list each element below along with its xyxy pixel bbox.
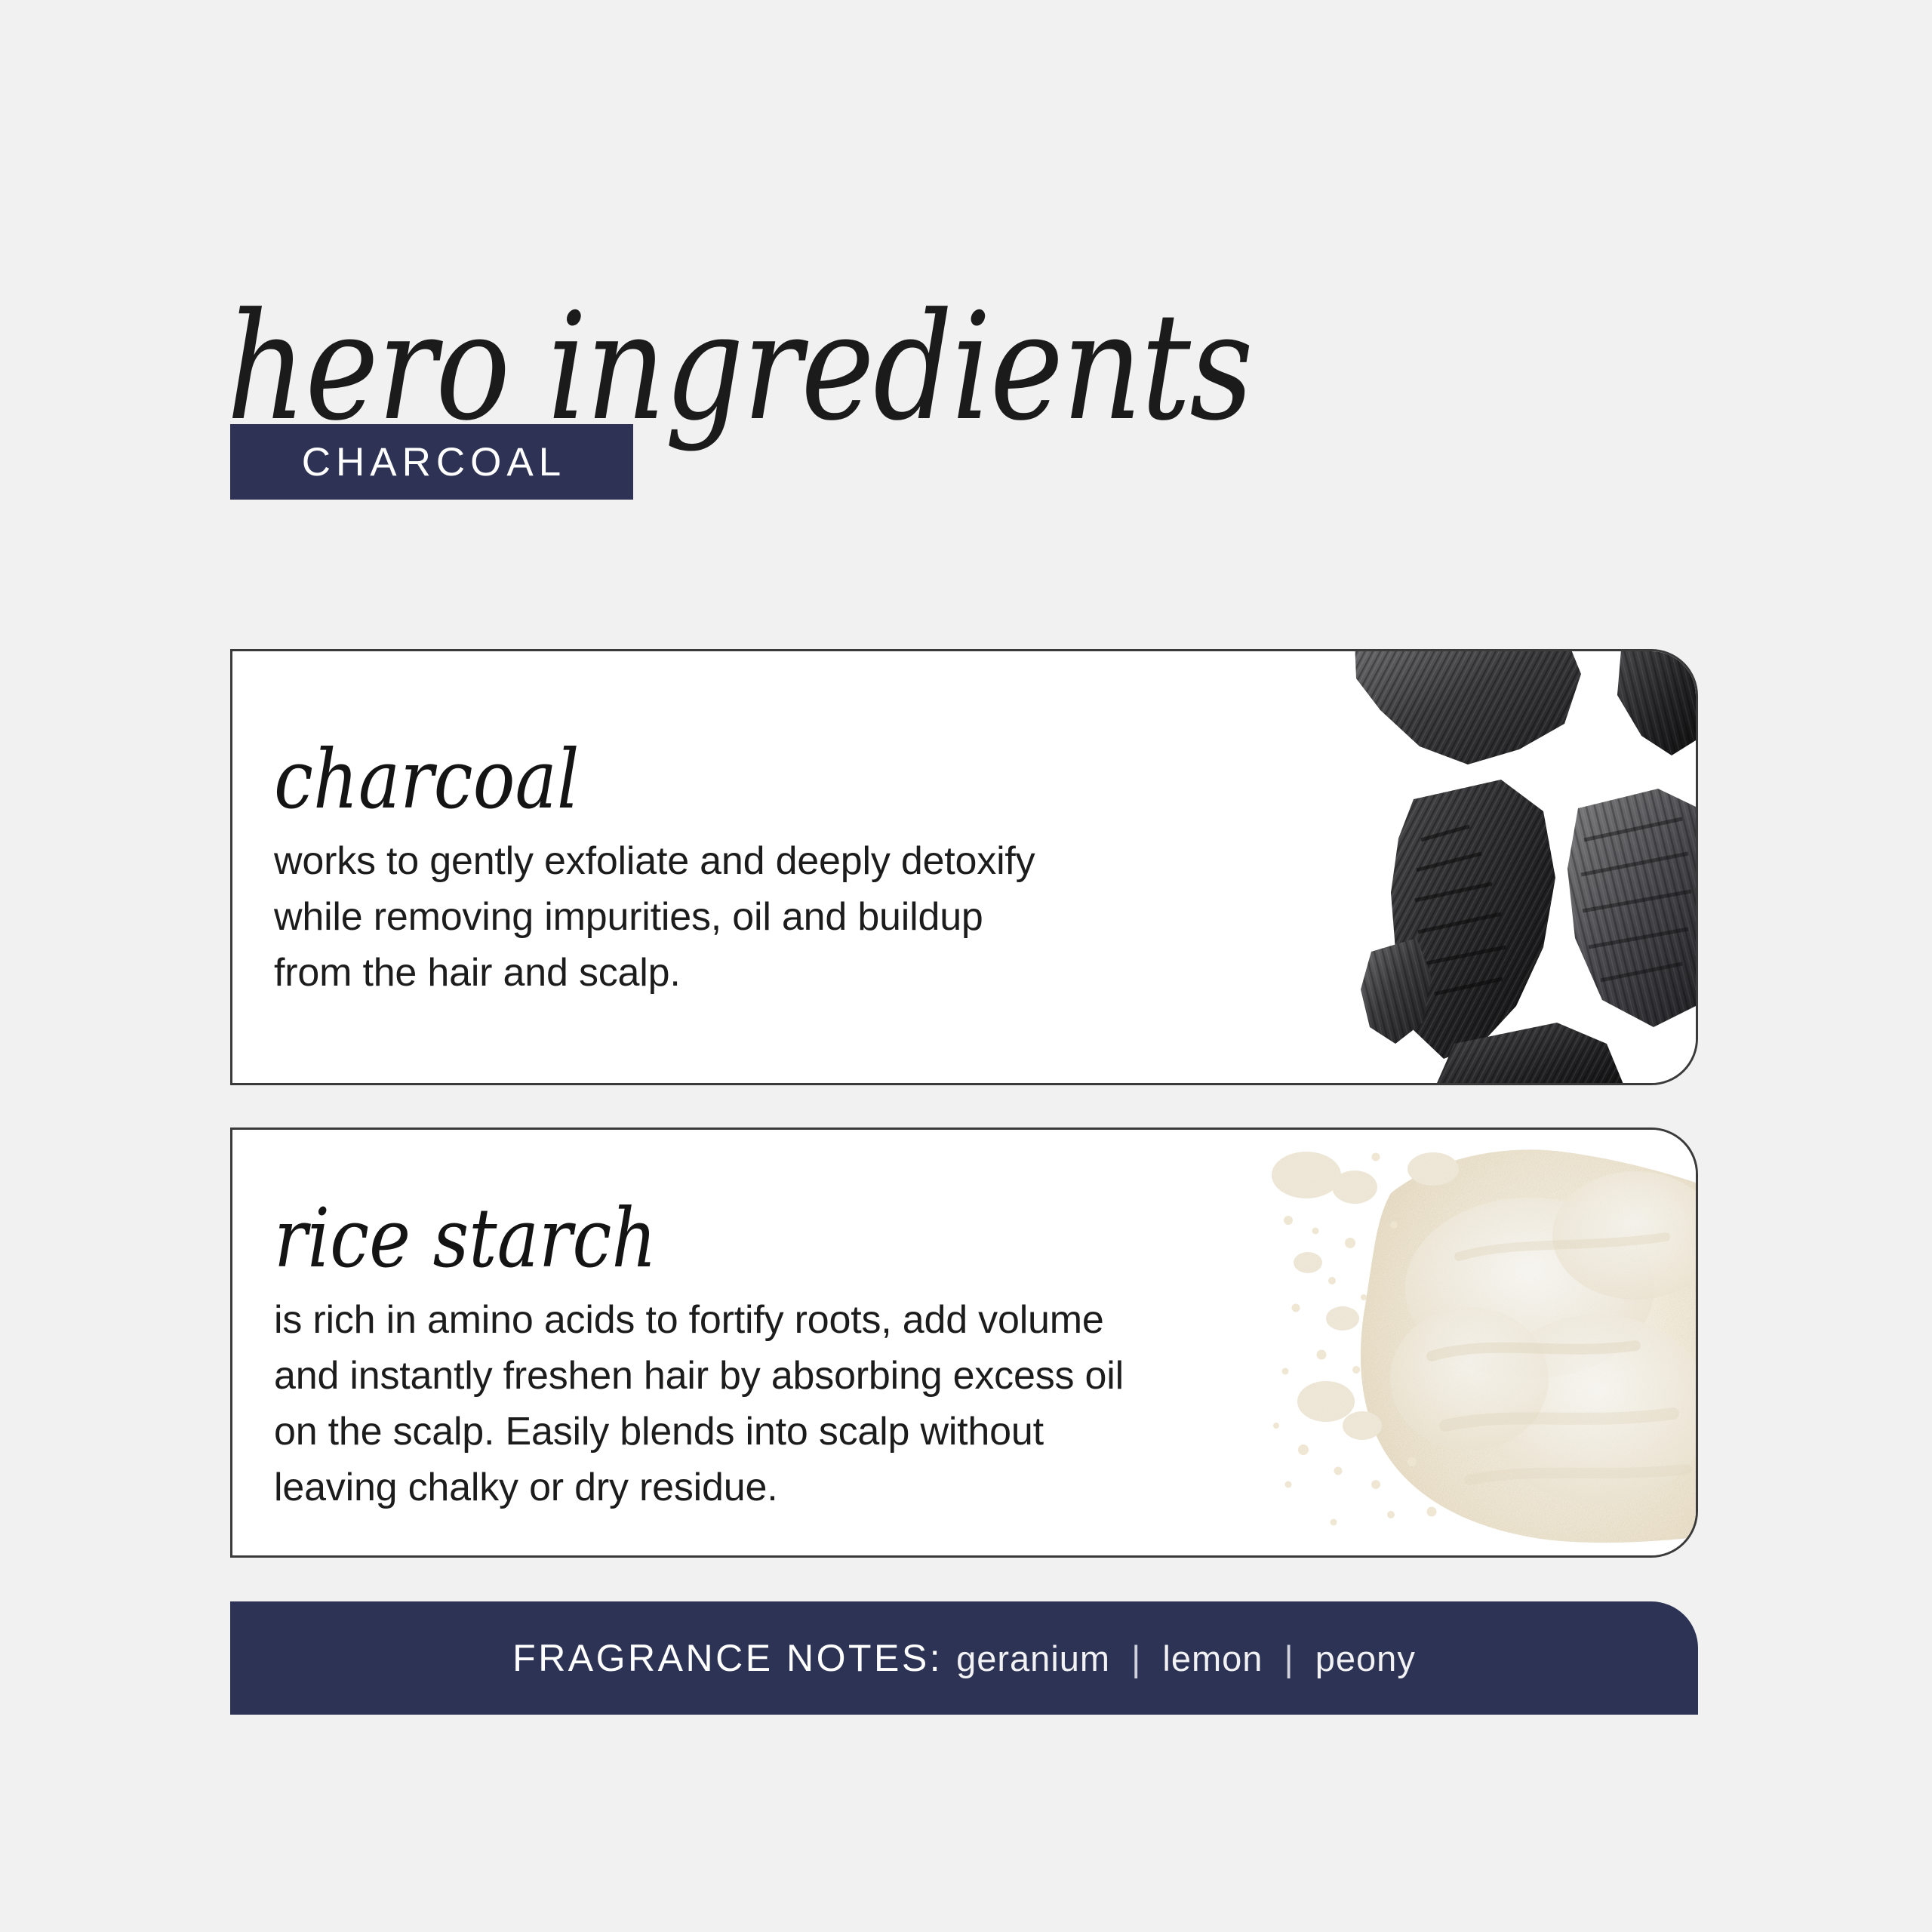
fragrance-note: peony	[1315, 1638, 1416, 1678]
description-line: and instantly freshen hair by absorbing …	[274, 1349, 1270, 1404]
ingredient-description-charcoal: works to gently exfoliate and deeply det…	[274, 834, 1270, 1001]
description-line: is rich in amino acids to fortify roots,…	[274, 1293, 1270, 1349]
rice-starch-image	[1243, 1130, 1696, 1555]
page-title: hero ingredients	[226, 294, 1252, 441]
ingredient-name-charcoal: charcoal	[274, 737, 1131, 823]
ingredient-card-charcoal: charcoal works to gently exfoliate and d…	[230, 649, 1698, 1085]
hero-ingredients-page: hero ingredients CHARCOAL	[0, 0, 1932, 1932]
fragrance-notes-bar: FRAGRANCE NOTES: geranium | lemon | peon…	[230, 1601, 1698, 1715]
description-line: from the hair and scalp.	[274, 946, 1270, 1001]
description-line: on the scalp. Easily blends into scalp w…	[274, 1404, 1270, 1460]
fragrance-notes-label: FRAGRANCE NOTES:	[512, 1636, 943, 1680]
ingredient-description-rice-starch: is rich in amino acids to fortify roots,…	[274, 1293, 1270, 1515]
ingredient-name-rice-starch: rice starch	[274, 1196, 1131, 1282]
description-line: works to gently exfoliate and deeply det…	[274, 834, 1270, 890]
ingredient-category-badge: CHARCOAL	[230, 424, 633, 500]
fragrance-note: geranium	[956, 1638, 1110, 1678]
fragrance-note-separator: |	[1284, 1638, 1294, 1678]
charcoal-card-text: charcoal works to gently exfoliate and d…	[274, 737, 1270, 1001]
charcoal-image	[1341, 651, 1696, 1083]
description-line: leaving chalky or dry residue.	[274, 1460, 1270, 1516]
description-line: while removing impurities, oil and build…	[274, 890, 1270, 946]
rice-starch-card-text: rice starch is rich in amino acids to fo…	[274, 1196, 1270, 1516]
fragrance-notes-list: geranium | lemon | peony	[956, 1638, 1416, 1679]
fragrance-note: lemon	[1162, 1638, 1263, 1678]
fragrance-note-separator: |	[1131, 1638, 1141, 1678]
fragrance-notes-content: FRAGRANCE NOTES: geranium | lemon | peon…	[512, 1636, 1416, 1680]
ingredient-card-rice-starch: rice starch is rich in amino acids to fo…	[230, 1128, 1698, 1558]
badge-label: CHARCOAL	[297, 442, 567, 482]
